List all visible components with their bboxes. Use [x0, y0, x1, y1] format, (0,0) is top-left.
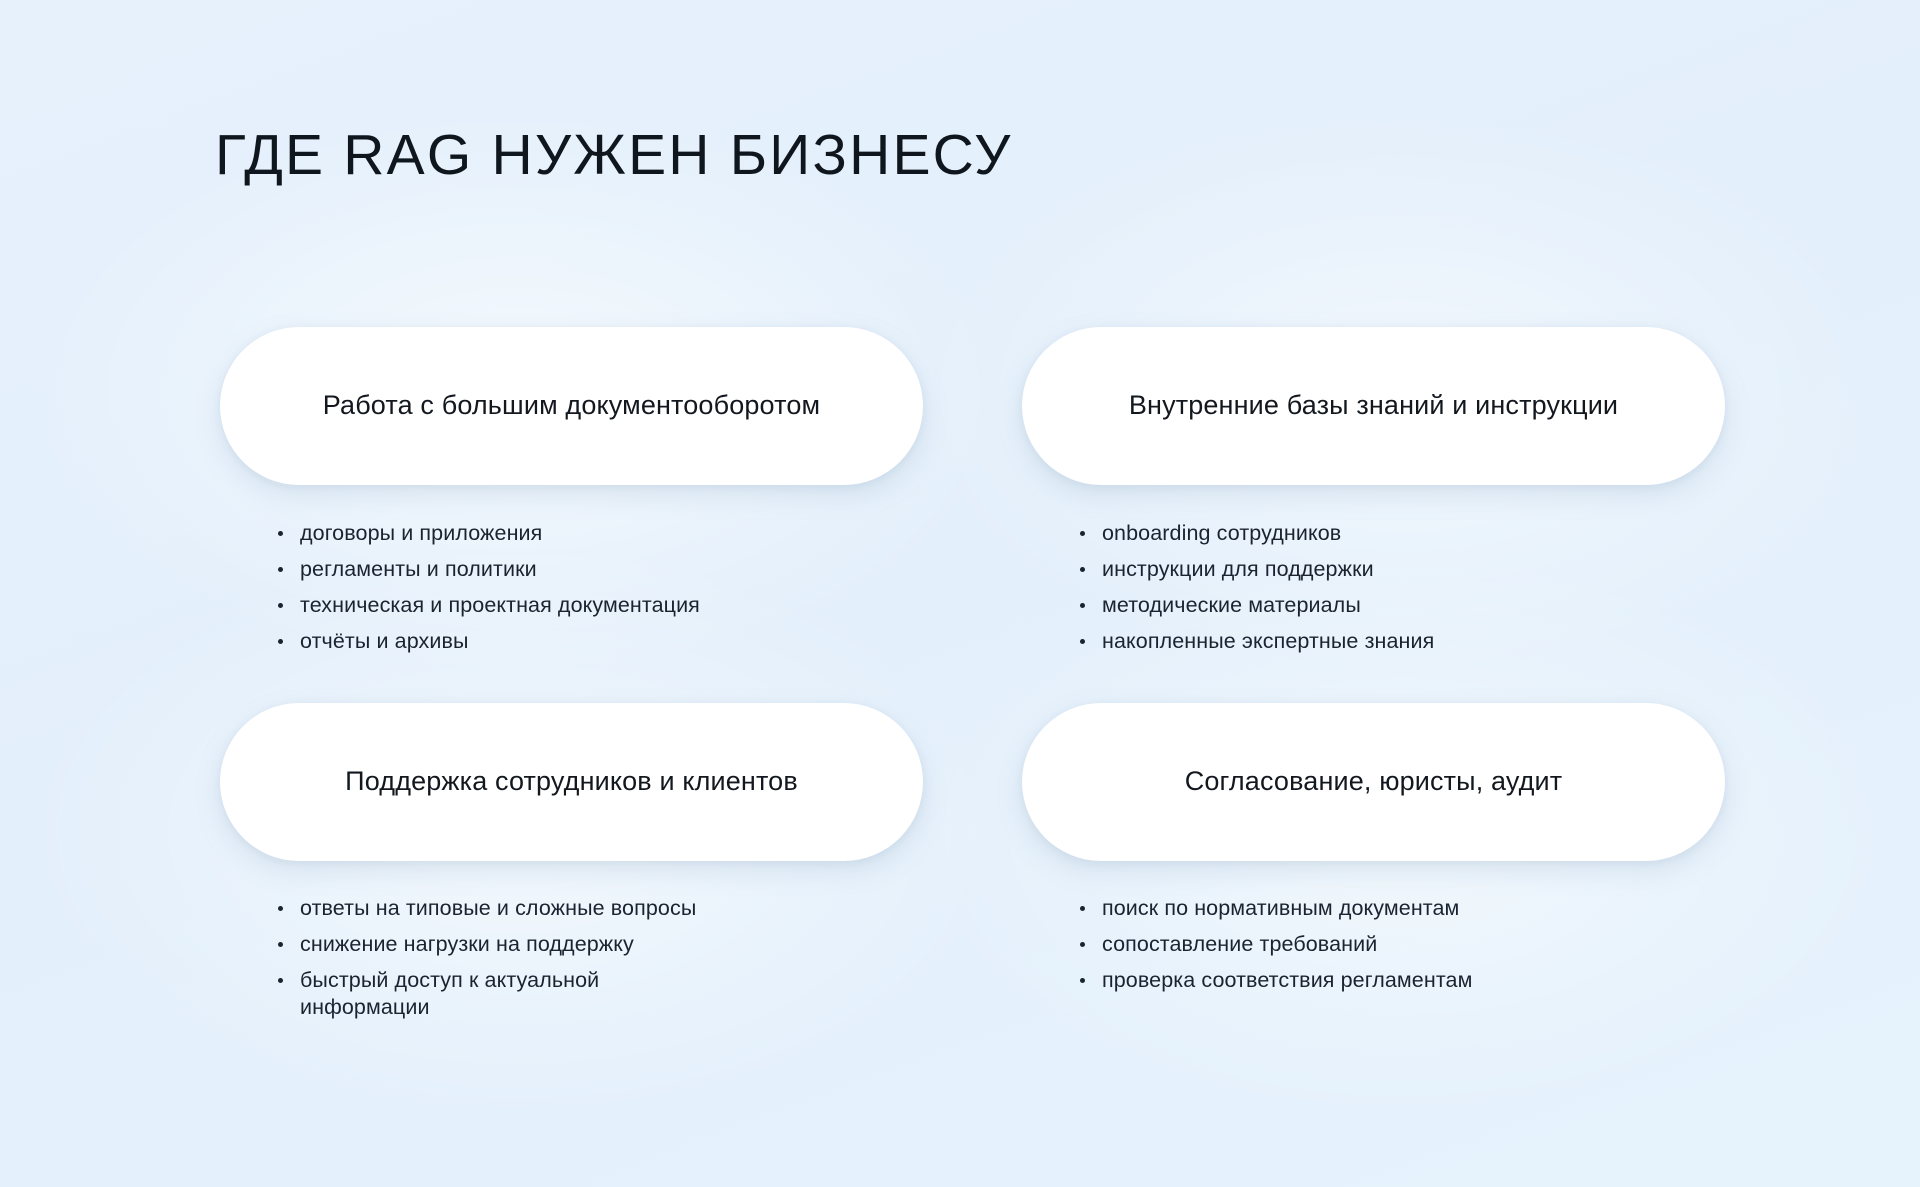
list-item-label: ответы на типовые и сложные вопросы [300, 896, 696, 920]
bullet-dot-icon [1080, 603, 1085, 608]
list-item: проверка соответствия регламентам [1080, 967, 1662, 994]
card-block-2: Внутренние базы знаний и инструкции onbo… [1022, 327, 1725, 655]
list-item: накопленные экспертные знания [1080, 628, 1662, 655]
bullet-dot-icon [278, 942, 283, 947]
list-item: методические материалы [1080, 592, 1662, 619]
list-item-label: onboarding сотрудников [1102, 521, 1341, 545]
list-item: техническая и проектная документация [278, 592, 860, 619]
card-pill-3[interactable]: Поддержка сотрудников и клиентов [220, 703, 923, 861]
bullet-dot-icon [1080, 978, 1085, 983]
card-block-4: Согласование, юристы, аудит поиск по нор… [1022, 703, 1725, 1021]
card-title-2: Внутренние базы знаний и инструкции [1129, 389, 1618, 423]
list-item: инструкции для поддержки [1080, 556, 1662, 583]
list-item: регламенты и политики [278, 556, 860, 583]
list-item-label: инструкции для поддержки [1102, 557, 1374, 581]
bullet-dot-icon [278, 639, 283, 644]
cards-grid: Работа с большим документооборотом догов… [220, 327, 1725, 1021]
slide-canvas: ГДЕ RAG НУЖЕН БИЗНЕСУ Работа с большим д… [0, 0, 1920, 1187]
list-item-label: регламенты и политики [300, 557, 537, 581]
bullet-dot-icon [278, 603, 283, 608]
card-title-1: Работа с большим документооборотом [323, 389, 820, 423]
bullet-dot-icon [278, 906, 283, 911]
bullet-dot-icon [278, 567, 283, 572]
page-title: ГДЕ RAG НУЖЕН БИЗНЕСУ [215, 126, 1013, 186]
list-item-label: техническая и проектная документация [300, 593, 700, 617]
bullet-dot-icon [278, 531, 283, 536]
card-title-3: Поддержка сотрудников и клиентов [345, 765, 798, 799]
bullet-list-1: договоры и приложения регламенты и полит… [220, 485, 923, 655]
list-item: ответы на типовые и сложные вопросы [278, 895, 860, 922]
card-block-1: Работа с большим документооборотом догов… [220, 327, 923, 655]
list-item-label: снижение нагрузки на поддержку [300, 932, 634, 956]
bullet-dot-icon [278, 978, 283, 983]
list-item-label: поиск по нормативным документам [1102, 896, 1459, 920]
list-item-label: методические материалы [1102, 593, 1361, 617]
list-item: снижение нагрузки на поддержку [278, 931, 860, 958]
card-pill-2[interactable]: Внутренние базы знаний и инструкции [1022, 327, 1725, 485]
list-item: договоры и приложения [278, 520, 860, 547]
list-item-label: накопленные экспертные знания [1102, 629, 1434, 653]
list-item-label: сопоставление требований [1102, 932, 1377, 956]
list-item: быстрый доступ к актуальной информации [278, 967, 630, 1021]
bullet-dot-icon [1080, 567, 1085, 572]
bullet-list-2: onboarding сотрудников инструкции для по… [1022, 485, 1725, 655]
bullet-dot-icon [1080, 639, 1085, 644]
bullet-dot-icon [1080, 942, 1085, 947]
list-item: поиск по нормативным документам [1080, 895, 1662, 922]
list-item: отчёты и архивы [278, 628, 860, 655]
list-item-label: отчёты и архивы [300, 629, 469, 653]
list-item-label: проверка соответствия регламентам [1102, 968, 1472, 992]
card-block-3: Поддержка сотрудников и клиентов ответы … [220, 703, 923, 1021]
bullet-dot-icon [1080, 906, 1085, 911]
list-item-label: быстрый доступ к актуальной информации [300, 968, 599, 1019]
list-item: onboarding сотрудников [1080, 520, 1662, 547]
card-title-4: Согласование, юристы, аудит [1185, 765, 1563, 799]
card-pill-1[interactable]: Работа с большим документооборотом [220, 327, 923, 485]
bullet-dot-icon [1080, 531, 1085, 536]
bullet-list-3: ответы на типовые и сложные вопросы сниж… [220, 861, 923, 1021]
card-pill-4[interactable]: Согласование, юристы, аудит [1022, 703, 1725, 861]
bullet-list-4: поиск по нормативным документам сопостав… [1022, 861, 1725, 994]
list-item-label: договоры и приложения [300, 521, 542, 545]
list-item: сопоставление требований [1080, 931, 1662, 958]
